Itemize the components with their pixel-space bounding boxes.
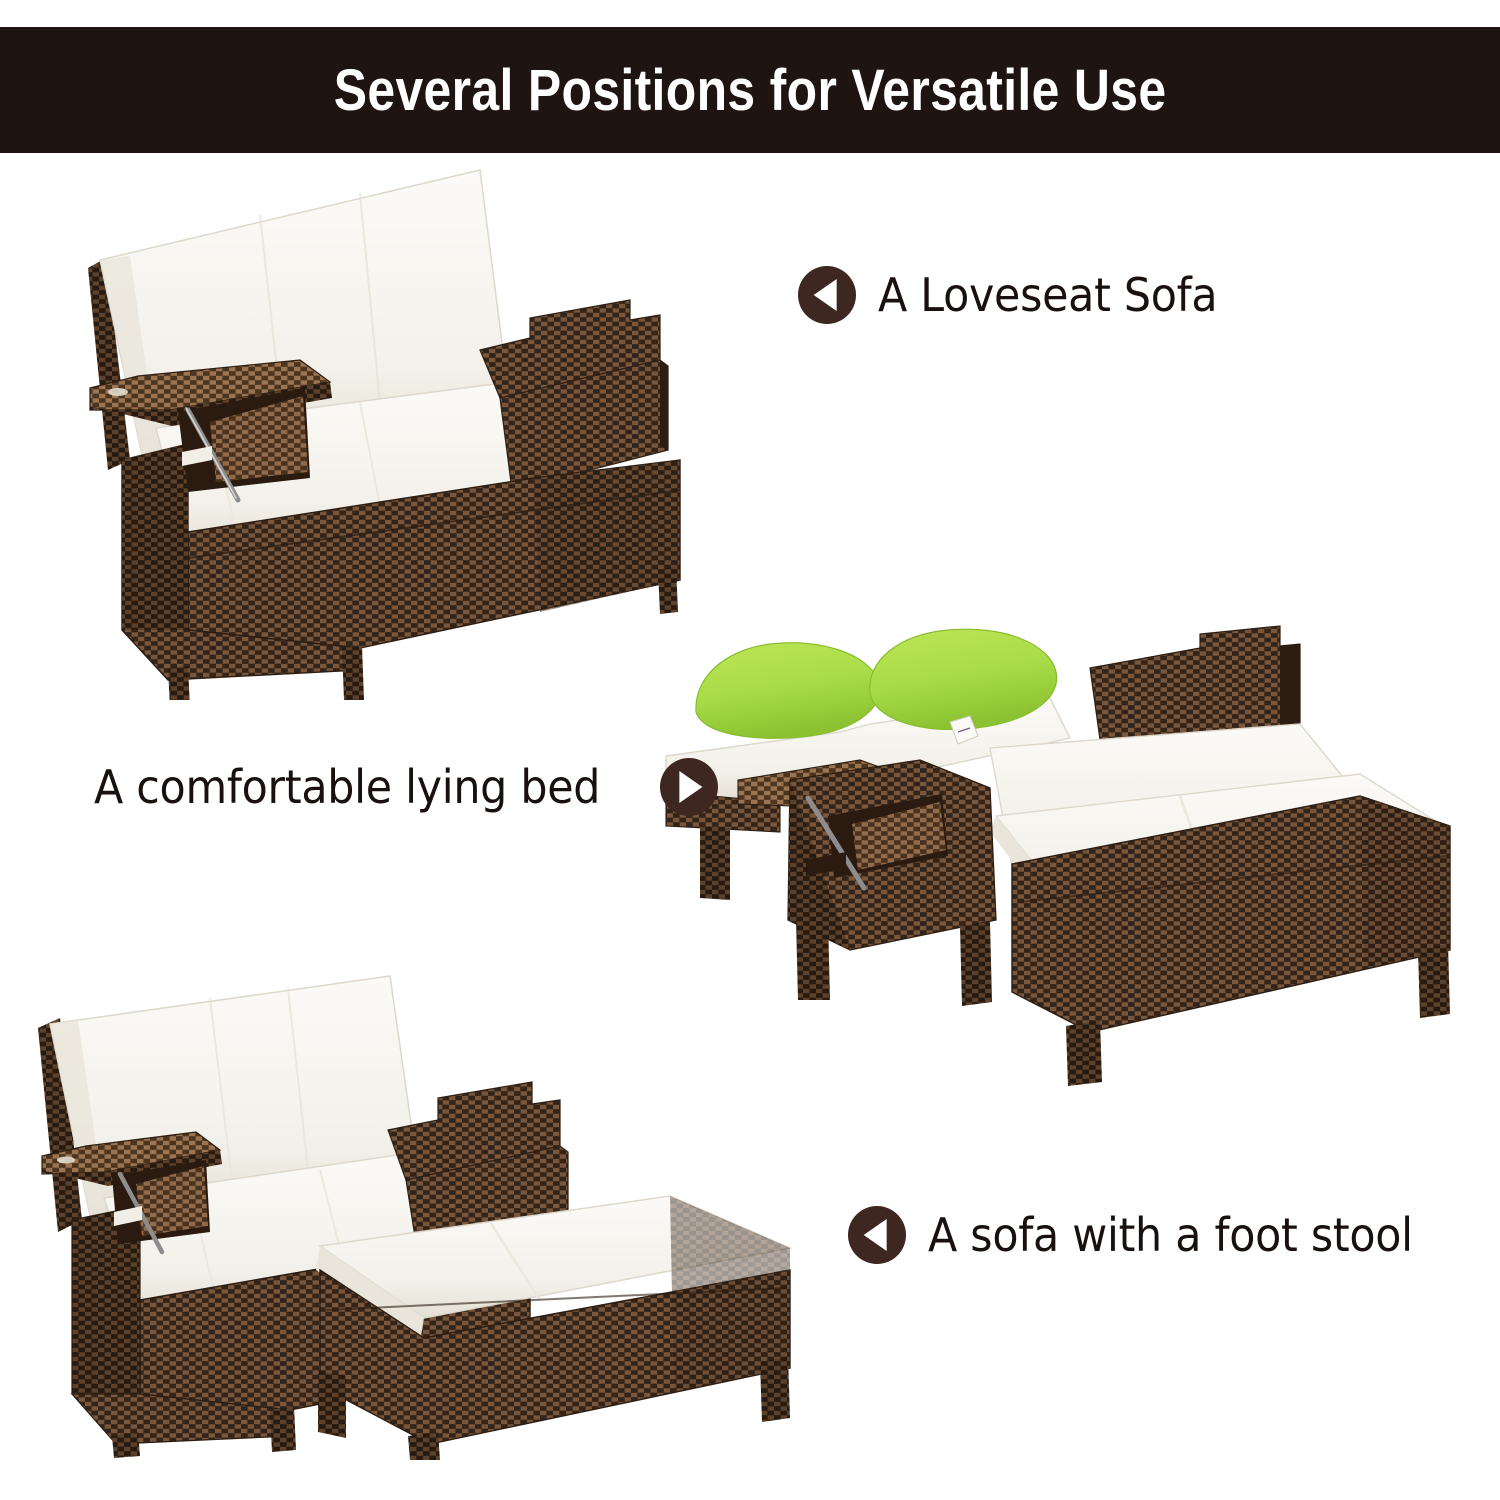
header-banner: Several Positions for Versatile Use bbox=[0, 27, 1500, 153]
triangle-right-icon bbox=[660, 758, 718, 816]
caption-lying-bed: A comfortable lying bed bbox=[94, 758, 718, 816]
triangle-left-icon bbox=[848, 1206, 906, 1264]
caption-loveseat: A Loveseat Sofa bbox=[798, 266, 1243, 324]
sofa-leg bbox=[342, 646, 364, 700]
caption-foot-stool-label: A sofa with a foot stool bbox=[928, 1208, 1413, 1262]
foot-stool-leg bbox=[318, 1370, 346, 1438]
foot-stool-leg bbox=[408, 1432, 440, 1460]
caption-loveseat-label: A Loveseat Sofa bbox=[878, 268, 1217, 322]
bed-leg bbox=[1066, 1020, 1102, 1086]
tray-handle-slot bbox=[57, 1157, 75, 1164]
caption-lying-bed-label: A comfortable lying bed bbox=[94, 760, 600, 814]
product-image-sofa-with-foot-stool bbox=[20, 970, 860, 1460]
triangle-left-icon bbox=[798, 266, 856, 324]
sofa-leg bbox=[658, 566, 678, 614]
sofa-leg bbox=[270, 1406, 296, 1452]
bed-leg bbox=[700, 826, 730, 900]
sofa-leg bbox=[168, 666, 190, 700]
foot-stool-leg bbox=[760, 1356, 790, 1422]
bed-leg bbox=[960, 922, 992, 1006]
bed-leg bbox=[1418, 944, 1450, 1018]
page-title: Several Positions for Versatile Use bbox=[334, 57, 1167, 124]
product-image-loveseat bbox=[60, 160, 740, 700]
sofa-leg bbox=[112, 1432, 140, 1458]
caption-foot-stool: A sofa with a foot stool bbox=[848, 1206, 1449, 1264]
green-pillow bbox=[696, 643, 880, 738]
tray-handle-slot bbox=[108, 388, 128, 396]
